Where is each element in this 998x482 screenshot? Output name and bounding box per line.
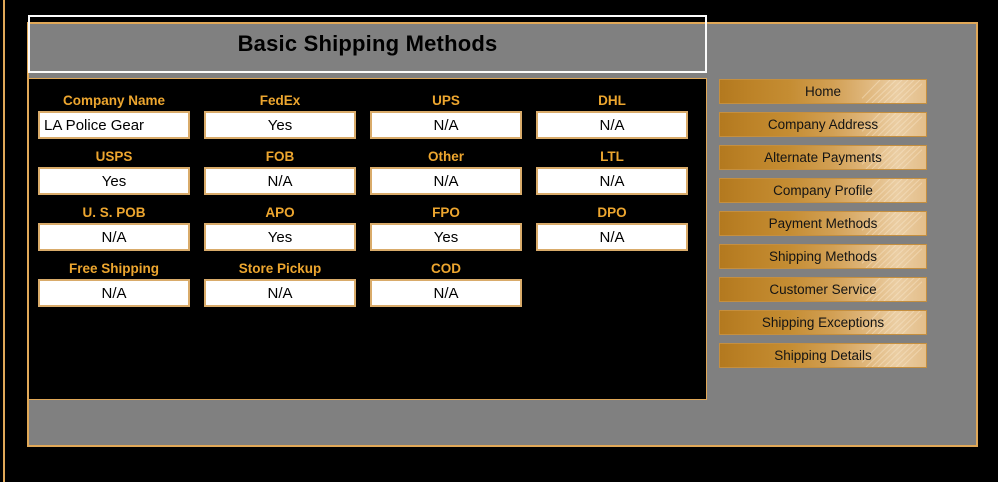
wheat-stalk-icon [860, 80, 922, 103]
left-gold-rule [3, 0, 5, 482]
page-title: Basic Shipping Methods [238, 31, 498, 57]
form-row: Free ShippingStore PickupCOD [38, 259, 699, 307]
field-input-fob[interactable] [204, 167, 356, 195]
field-label-fpo: FPO [370, 203, 522, 223]
form-cell: COD [370, 259, 522, 307]
field-input-ups[interactable] [370, 111, 522, 139]
field-label-usps: USPS [38, 147, 190, 167]
sidebar-item-company-profile[interactable]: Company Profile [719, 178, 927, 203]
field-input-dhl[interactable] [536, 111, 688, 139]
app-root: Basic Shipping Methods Company NameFedEx… [0, 0, 998, 482]
form-cell: DHL [536, 91, 688, 139]
field-label-ups: UPS [370, 91, 522, 111]
field-input-company-name[interactable] [38, 111, 190, 139]
sidebar-item-label: Shipping Exceptions [762, 311, 884, 334]
field-input-fpo[interactable] [370, 223, 522, 251]
field-input-free-shipping[interactable] [38, 279, 190, 307]
sidebar-item-payment-methods[interactable]: Payment Methods [719, 211, 927, 236]
form-cell: Other [370, 147, 522, 195]
sidebar-item-label: Company Address [768, 113, 878, 136]
sidebar-item-home[interactable]: Home [719, 79, 927, 104]
field-input-usps[interactable] [38, 167, 190, 195]
sidebar-nav: HomeCompany AddressAlternate PaymentsCom… [719, 79, 929, 376]
sidebar-item-shipping-exceptions[interactable]: Shipping Exceptions [719, 310, 927, 335]
field-input-other[interactable] [370, 167, 522, 195]
sidebar-item-shipping-methods[interactable]: Shipping Methods [719, 244, 927, 269]
field-label-fedex: FedEx [204, 91, 356, 111]
form-cell: DPO [536, 203, 688, 251]
form-cell: U. S. POB [38, 203, 190, 251]
field-label-fob: FOB [204, 147, 356, 167]
sidebar-item-label: Shipping Details [774, 344, 872, 367]
form-cell: UPS [370, 91, 522, 139]
title-bar: Basic Shipping Methods [28, 15, 707, 73]
form-row: Company NameFedExUPSDHL [38, 91, 699, 139]
field-label-store-pickup: Store Pickup [204, 259, 356, 279]
sidebar-item-label: Payment Methods [769, 212, 878, 235]
form-grid: Company NameFedExUPSDHLUSPSFOBOtherLTLU.… [38, 91, 699, 315]
field-label-cod: COD [370, 259, 522, 279]
field-input-dpo[interactable] [536, 223, 688, 251]
field-input-u-s-pob[interactable] [38, 223, 190, 251]
field-input-cod[interactable] [370, 279, 522, 307]
form-cell: FPO [370, 203, 522, 251]
form-row: USPSFOBOtherLTL [38, 147, 699, 195]
field-input-store-pickup[interactable] [204, 279, 356, 307]
form-cell: Company Name [38, 91, 190, 139]
sidebar-item-shipping-details[interactable]: Shipping Details [719, 343, 927, 368]
form-cell: Store Pickup [204, 259, 356, 307]
sidebar-item-label: Company Profile [773, 179, 873, 202]
field-label-company-name: Company Name [38, 91, 190, 111]
field-label-free-shipping: Free Shipping [38, 259, 190, 279]
form-cell: LTL [536, 147, 688, 195]
sidebar-item-label: Home [805, 80, 841, 103]
form-cell: APO [204, 203, 356, 251]
field-label-other: Other [370, 147, 522, 167]
sidebar-item-customer-service[interactable]: Customer Service [719, 277, 927, 302]
sidebar-item-label: Alternate Payments [764, 146, 882, 169]
sidebar-item-company-address[interactable]: Company Address [719, 112, 927, 137]
sidebar-item-label: Shipping Methods [769, 245, 877, 268]
field-label-dhl: DHL [536, 91, 688, 111]
sidebar-item-alternate-payments[interactable]: Alternate Payments [719, 145, 927, 170]
field-label-ltl: LTL [536, 147, 688, 167]
shipping-methods-form-panel: Company NameFedExUPSDHLUSPSFOBOtherLTLU.… [28, 78, 707, 400]
field-label-dpo: DPO [536, 203, 688, 223]
sidebar-item-label: Customer Service [769, 278, 876, 301]
form-cell: USPS [38, 147, 190, 195]
field-input-ltl[interactable] [536, 167, 688, 195]
field-input-apo[interactable] [204, 223, 356, 251]
form-cell: Free Shipping [38, 259, 190, 307]
form-cell: FOB [204, 147, 356, 195]
form-row: U. S. POBAPOFPODPO [38, 203, 699, 251]
form-cell: FedEx [204, 91, 356, 139]
field-label-u-s-pob: U. S. POB [38, 203, 190, 223]
field-input-fedex[interactable] [204, 111, 356, 139]
field-label-apo: APO [204, 203, 356, 223]
